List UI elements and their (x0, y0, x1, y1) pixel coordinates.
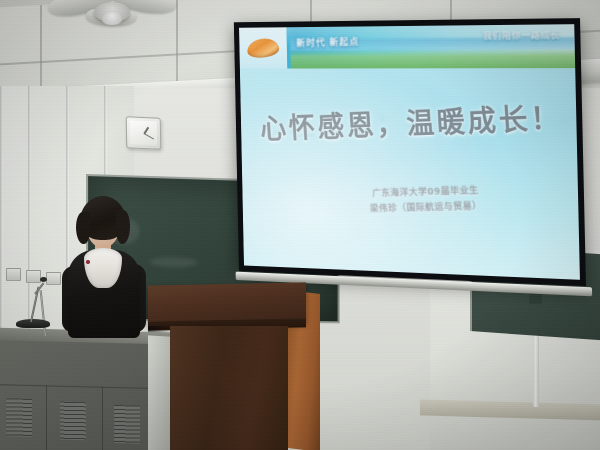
projection-screen: 新时代 新起点 我们陪你一路成长 心怀感恩，温暖成长！ 心怀感恩，温暖成长！ 广… (234, 18, 586, 286)
microphone-capsule (40, 277, 47, 282)
lecture-hall-photo: 新时代 新起点 我们陪你一路成长 心怀感恩，温暖成长！ 心怀感恩，温暖成长！ 广… (0, 0, 600, 450)
slide-banner: 新时代 新起点 我们陪你一路成长 (239, 24, 575, 68)
ceiling-fan-light (102, 12, 122, 25)
presenter-hair-right (116, 210, 130, 244)
wall-clock-face (130, 120, 157, 145)
banner-logo (239, 27, 287, 68)
cabinet-seam (46, 385, 47, 450)
wall-clock-minute-hand (143, 133, 153, 140)
banner-subtitle: 我们陪你一路成长 (483, 29, 560, 42)
cabinet-vent (6, 398, 32, 437)
cabinet-vent (60, 402, 86, 441)
wall-groove (0, 86, 3, 336)
presenter (58, 196, 150, 336)
presenter-lapel-pin (86, 260, 90, 264)
equipment-cabinet (0, 340, 154, 450)
banner-hills-graphic (290, 48, 575, 68)
power-outlet (6, 268, 21, 281)
shell-icon (246, 37, 280, 59)
chalk-smudge (150, 257, 198, 268)
wall-clock (126, 116, 162, 150)
cabinet-seam (0, 384, 154, 389)
cabinet-right-edge (148, 335, 170, 450)
microphone-base (16, 319, 50, 328)
projection-screen-surface: 新时代 新起点 我们陪你一路成长 心怀感恩，温暖成长！ 心怀感恩，温暖成长！ 广… (239, 24, 580, 280)
wall-groove (28, 86, 31, 336)
presenter-hair-left (76, 212, 90, 244)
ceiling-fan (50, 0, 176, 32)
power-outlet (26, 270, 41, 283)
podium-body (170, 326, 288, 450)
cabinet-vent (114, 405, 140, 444)
cabinet-seam (102, 387, 103, 450)
